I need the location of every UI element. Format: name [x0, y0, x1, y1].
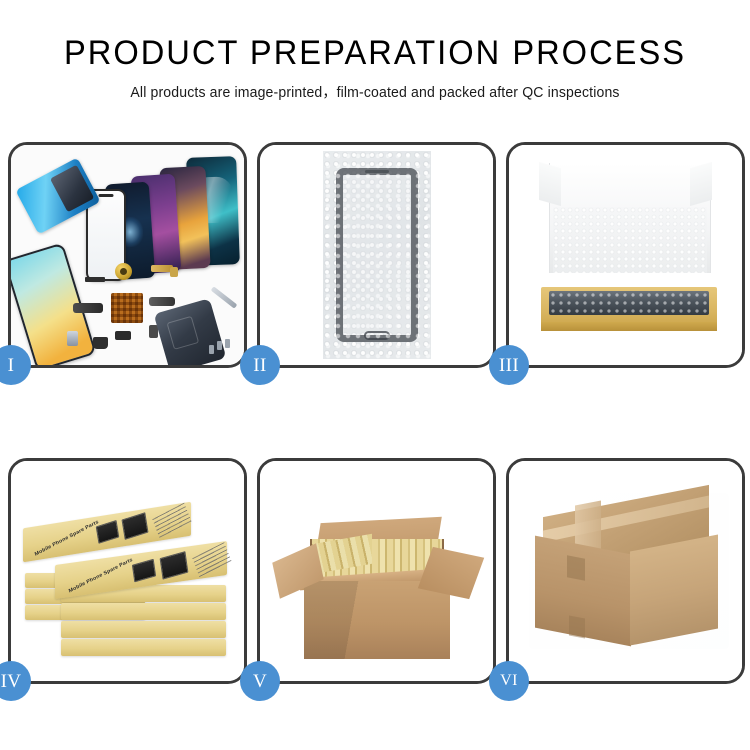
box-screen-thumbnail [160, 551, 189, 580]
process-steps-grid: I II [8, 142, 745, 684]
step-badge-2: II [240, 345, 280, 385]
retail-box-slab [61, 639, 226, 656]
carton-right-face [630, 534, 718, 645]
phone-screen-frame [336, 168, 418, 342]
step-image-4: Mobile Phone Spare Parts Mobile Phone Sp… [11, 461, 244, 681]
header: PRODUCT PREPARATION PROCESS All products… [0, 34, 750, 102]
step-panel-5: V [257, 458, 496, 684]
part-flex-cable-gold [151, 265, 173, 272]
part-camera-module [67, 331, 78, 346]
step-panel-1: I [8, 142, 247, 368]
part-screw [225, 339, 230, 348]
home-button-cutout [364, 331, 390, 340]
part-screw [209, 345, 214, 354]
box-screen-thumbnail [122, 512, 149, 540]
box-lid-flap-left [539, 162, 561, 206]
step-image-2 [260, 145, 493, 365]
box-spec-lines [192, 542, 231, 578]
retail-box-slab [61, 603, 226, 620]
box-label-text: Mobile Phone Spare Parts [68, 557, 134, 594]
retail-box-stack: Mobile Phone Spare Parts Mobile Phone Sp… [21, 481, 241, 671]
carton-seam-upper [567, 555, 585, 580]
step-badge-5: V [240, 661, 280, 701]
step-panel-6: VI [506, 458, 745, 684]
step-panel-2: II [257, 142, 496, 368]
part-flex-cable-dark-2 [149, 297, 175, 306]
tray-front-edge [541, 322, 717, 331]
kraft-box-tray [541, 287, 717, 331]
box-lid-flap-right [690, 162, 712, 206]
step-image-3 [509, 145, 742, 365]
part-connector-bar [85, 277, 105, 282]
step-image-1 [11, 145, 244, 365]
carton-side-shading [304, 581, 450, 659]
step-panel-4: Mobile Phone Spare Parts Mobile Phone Sp… [8, 458, 247, 684]
box-spec-lines [152, 503, 191, 539]
retail-box-slab [61, 621, 226, 638]
step-badge-6: VI [489, 661, 529, 701]
step-image-6 [509, 461, 742, 681]
step-panel-3: III [506, 142, 745, 368]
part-small-module [115, 331, 131, 340]
part-speaker [93, 337, 108, 349]
foam-padding [553, 207, 707, 273]
page-title: PRODUCT PREPARATION PROCESS [15, 34, 735, 72]
box-label-text: Mobile Phone Spare Parts [34, 519, 100, 557]
bubble-wrap-sheet [323, 151, 431, 359]
step-badge-3: III [489, 345, 529, 385]
page-subtitle: All products are image-printed，film-coat… [11, 81, 739, 102]
phone-notch [99, 194, 114, 197]
wrapped-product-in-tray [549, 291, 709, 315]
carton-seam-lower [569, 615, 585, 638]
part-screw [217, 341, 222, 350]
part-camera-ring [115, 263, 132, 280]
box-screen-thumbnail [132, 559, 156, 583]
part-chip-grid [111, 293, 143, 323]
part-flex-cable-dark [73, 303, 103, 313]
product-preparation-infographic: PRODUCT PREPARATION PROCESS All products… [0, 0, 750, 750]
sealed-carton [535, 501, 721, 641]
step-image-5 [260, 461, 493, 681]
